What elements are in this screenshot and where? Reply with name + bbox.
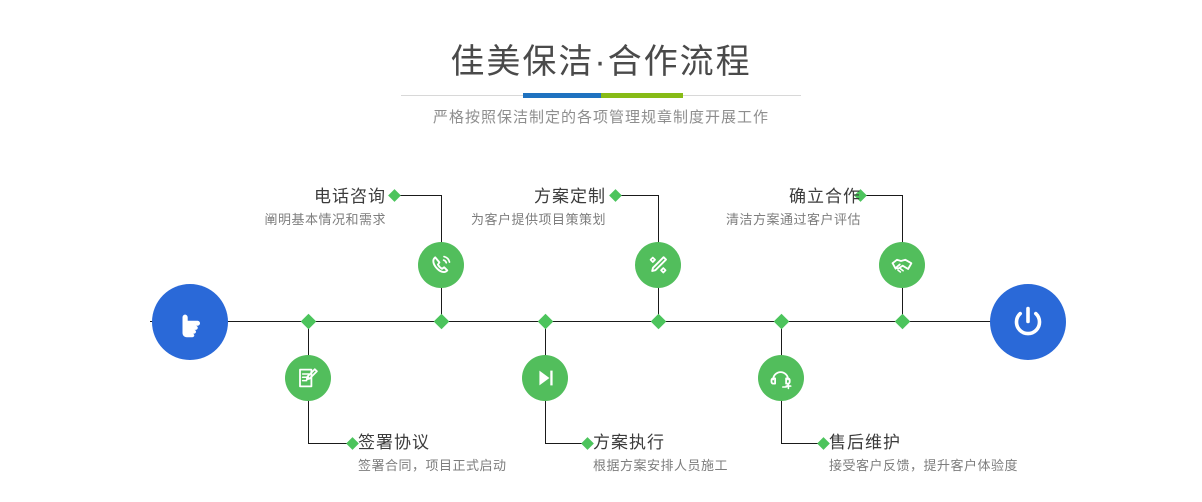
axis-marker-top-3 [895, 314, 911, 330]
axis-marker-bottom-2 [538, 314, 554, 330]
step-icon-pencil-design[interactable] [635, 242, 681, 288]
step-icon-headset-support[interactable] [758, 355, 804, 401]
connector-hline-top-1 [396, 195, 442, 196]
step-subtitle: 签署合同，项目正式启动 [358, 456, 507, 476]
step-label-bottom-1: 签署协议 签署合同，项目正式启动 [358, 432, 507, 476]
handshake-icon [888, 251, 916, 279]
step-subtitle: 为客户提供项目策策划 [471, 210, 606, 230]
title-divider [401, 93, 801, 98]
step-label-bottom-3: 售后维护 接受客户反馈，提升客户体验度 [829, 432, 1018, 476]
pointing-hand-icon [170, 302, 210, 342]
page-title: 佳美保洁·合作流程 [0, 40, 1202, 84]
divider-segment-green [601, 93, 683, 98]
step-label-top-1: 电话咨询 阐明基本情况和需求 [264, 186, 386, 230]
timeline-end-endpoint [990, 284, 1066, 360]
phone-call-icon [427, 251, 455, 279]
divider-segment-blue [523, 93, 601, 98]
step-title: 电话咨询 [264, 186, 386, 208]
step-title: 签署协议 [358, 432, 507, 454]
step-icon-document-sign[interactable] [285, 355, 331, 401]
timeline-start-endpoint [152, 284, 228, 360]
connector-hline-top-2 [617, 195, 659, 196]
axis-marker-top-1 [434, 314, 450, 330]
step-icon-play-skip[interactable] [522, 355, 568, 401]
step-icon-handshake[interactable] [879, 242, 925, 288]
axis-marker-bottom-3 [774, 314, 790, 330]
document-sign-icon [294, 364, 322, 392]
page-subtitle: 严格按照保洁制定的各项管理规章制度开展工作 [0, 106, 1202, 130]
process-flow-infographic: 佳美保洁·合作流程 严格按照保洁制定的各项管理规章制度开展工作 [0, 0, 1202, 502]
headset-support-icon [767, 364, 795, 392]
step-subtitle: 阐明基本情况和需求 [264, 210, 386, 230]
play-skip-icon [532, 365, 558, 391]
step-subtitle: 清洁方案通过客户评估 [726, 210, 861, 230]
step-title: 方案定制 [471, 186, 606, 208]
connector-marker-bottom-1 [346, 437, 359, 450]
step-label-top-2: 方案定制 为客户提供项目策策划 [471, 186, 606, 230]
step-title: 售后维护 [829, 432, 1018, 454]
timeline-axis [150, 321, 1052, 322]
connector-marker-top-1 [388, 189, 401, 202]
connector-marker-top-2 [609, 189, 622, 202]
connector-hline-top-3 [862, 195, 903, 196]
power-icon [1007, 301, 1049, 343]
step-subtitle: 接受客户反馈，提升客户体验度 [829, 456, 1018, 476]
step-icon-phone-call[interactable] [418, 242, 464, 288]
step-title: 确立合作 [726, 186, 861, 208]
step-subtitle: 根据方案安排人员施工 [593, 456, 728, 476]
axis-marker-top-2 [651, 314, 667, 330]
connector-marker-bottom-3 [817, 437, 830, 450]
connector-marker-bottom-2 [581, 437, 594, 450]
step-label-top-3: 确立合作 清洁方案通过客户评估 [726, 186, 861, 230]
axis-marker-bottom-1 [301, 314, 317, 330]
step-label-bottom-2: 方案执行 根据方案安排人员施工 [593, 432, 728, 476]
pencil-design-icon [644, 251, 672, 279]
step-title: 方案执行 [593, 432, 728, 454]
